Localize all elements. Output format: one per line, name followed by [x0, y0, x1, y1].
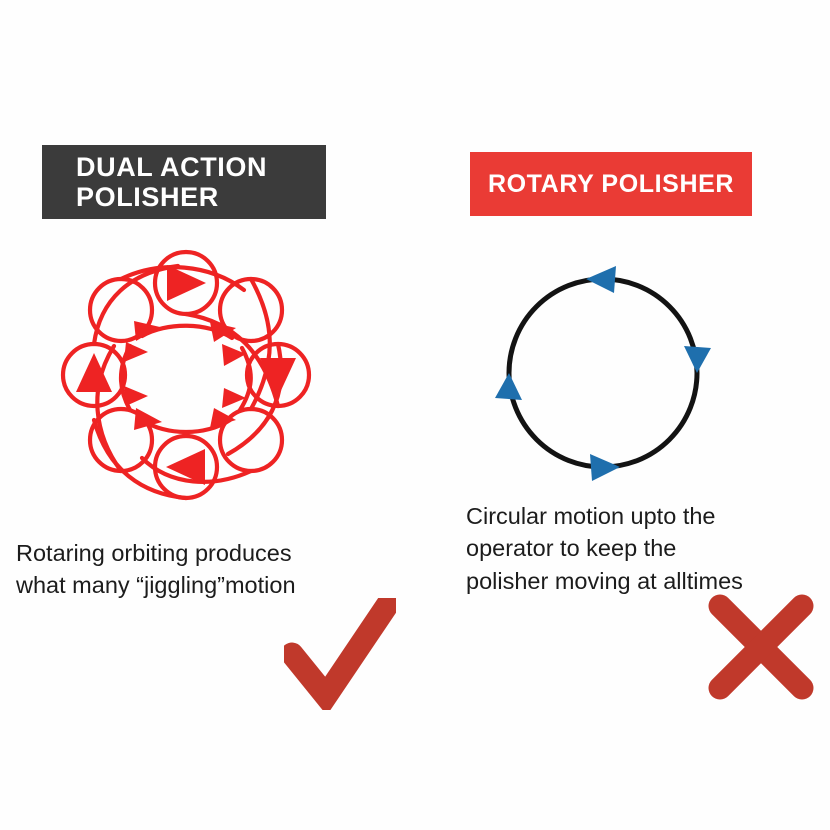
dual-action-polisher-header: DUAL ACTION POLISHER — [42, 145, 326, 219]
rotary-polisher-header: ROTARY POLISHER — [470, 152, 752, 216]
rotary-circle-svg — [492, 262, 714, 484]
cross-mark-icon — [706, 592, 816, 702]
rotary-caption: Circular motion upto the operator to kee… — [466, 500, 826, 597]
infographic-canvas: DUAL ACTION POLISHER — [0, 0, 830, 830]
check-mark-svg — [284, 598, 396, 710]
arrow-inner-left-upper — [124, 342, 148, 362]
check-mark-icon — [284, 598, 396, 710]
rotary-circle-outline — [509, 279, 697, 467]
arrow-left-down — [495, 373, 522, 400]
dual-action-orbit-diagram — [38, 248, 334, 502]
rotary-circle-diagram — [492, 262, 714, 484]
arrow-top-left — [586, 266, 616, 293]
dual-action-orbit-svg — [38, 248, 334, 502]
arrow-inner-left-lower — [124, 386, 148, 406]
cross-mark-svg — [706, 592, 816, 702]
arrow-bottom-right — [590, 454, 620, 481]
arrow-right-up — [684, 346, 711, 373]
dual-action-caption: Rotaring orbiting produces what many “ji… — [16, 537, 416, 602]
rotary-direction-arrows — [495, 266, 711, 481]
